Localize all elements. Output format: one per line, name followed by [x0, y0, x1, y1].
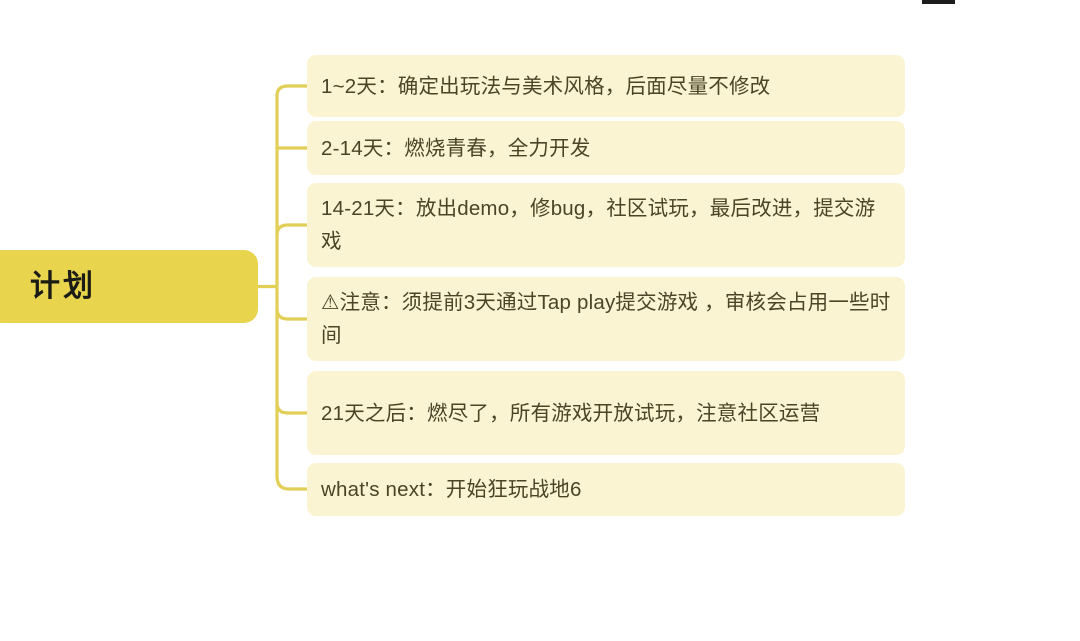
branch-node-2-14-days[interactable]: 2-14天：燃烧青春，全力开发	[307, 121, 905, 175]
connector-branch-0	[277, 86, 307, 96]
top-edge-clipped-bar	[922, 0, 955, 4]
branch-node-label: what's next：开始狂玩战地6	[321, 473, 582, 506]
root-node-label: 计划	[30, 272, 96, 302]
connector-branch-5	[277, 476, 307, 489]
mindmap-canvas: 计划 1~2天：确定出玩法与美术风格，后面尽量不修改 2-14天：燃烧青春，全力…	[0, 0, 1080, 641]
branch-node-whats-next[interactable]: what's next：开始狂玩战地6	[307, 463, 905, 516]
branch-node-after-21-days[interactable]: 21天之后：燃尽了，所有游戏开放试玩，注意社区运营	[307, 371, 905, 455]
branch-node-attention[interactable]: ⚠注意：须提前3天通过Tap play提交游戏 ，审核会占用一些时间	[307, 277, 905, 361]
connector-branch-3	[277, 309, 307, 319]
connector-branch-2	[277, 225, 307, 235]
branch-node-label: 2-14天：燃烧青春，全力开发	[321, 132, 591, 165]
branch-node-label: 14-21天：放出demo，修bug，社区试玩，最后改进，提交游戏	[321, 192, 891, 258]
branch-node-label: 21天之后：燃尽了，所有游戏开放试玩，注意社区运营	[321, 397, 820, 430]
connector-branch-4	[277, 403, 307, 413]
root-node[interactable]: 计划	[0, 250, 258, 323]
branch-node-14-21-days[interactable]: 14-21天：放出demo，修bug，社区试玩，最后改进，提交游戏	[307, 183, 905, 267]
branch-node-label: 1~2天：确定出玩法与美术风格，后面尽量不修改	[321, 70, 770, 103]
branch-node-label: ⚠注意：须提前3天通过Tap play提交游戏 ，审核会占用一些时间	[321, 286, 891, 352]
branch-node-1-2-days[interactable]: 1~2天：确定出玩法与美术风格，后面尽量不修改	[307, 55, 905, 117]
